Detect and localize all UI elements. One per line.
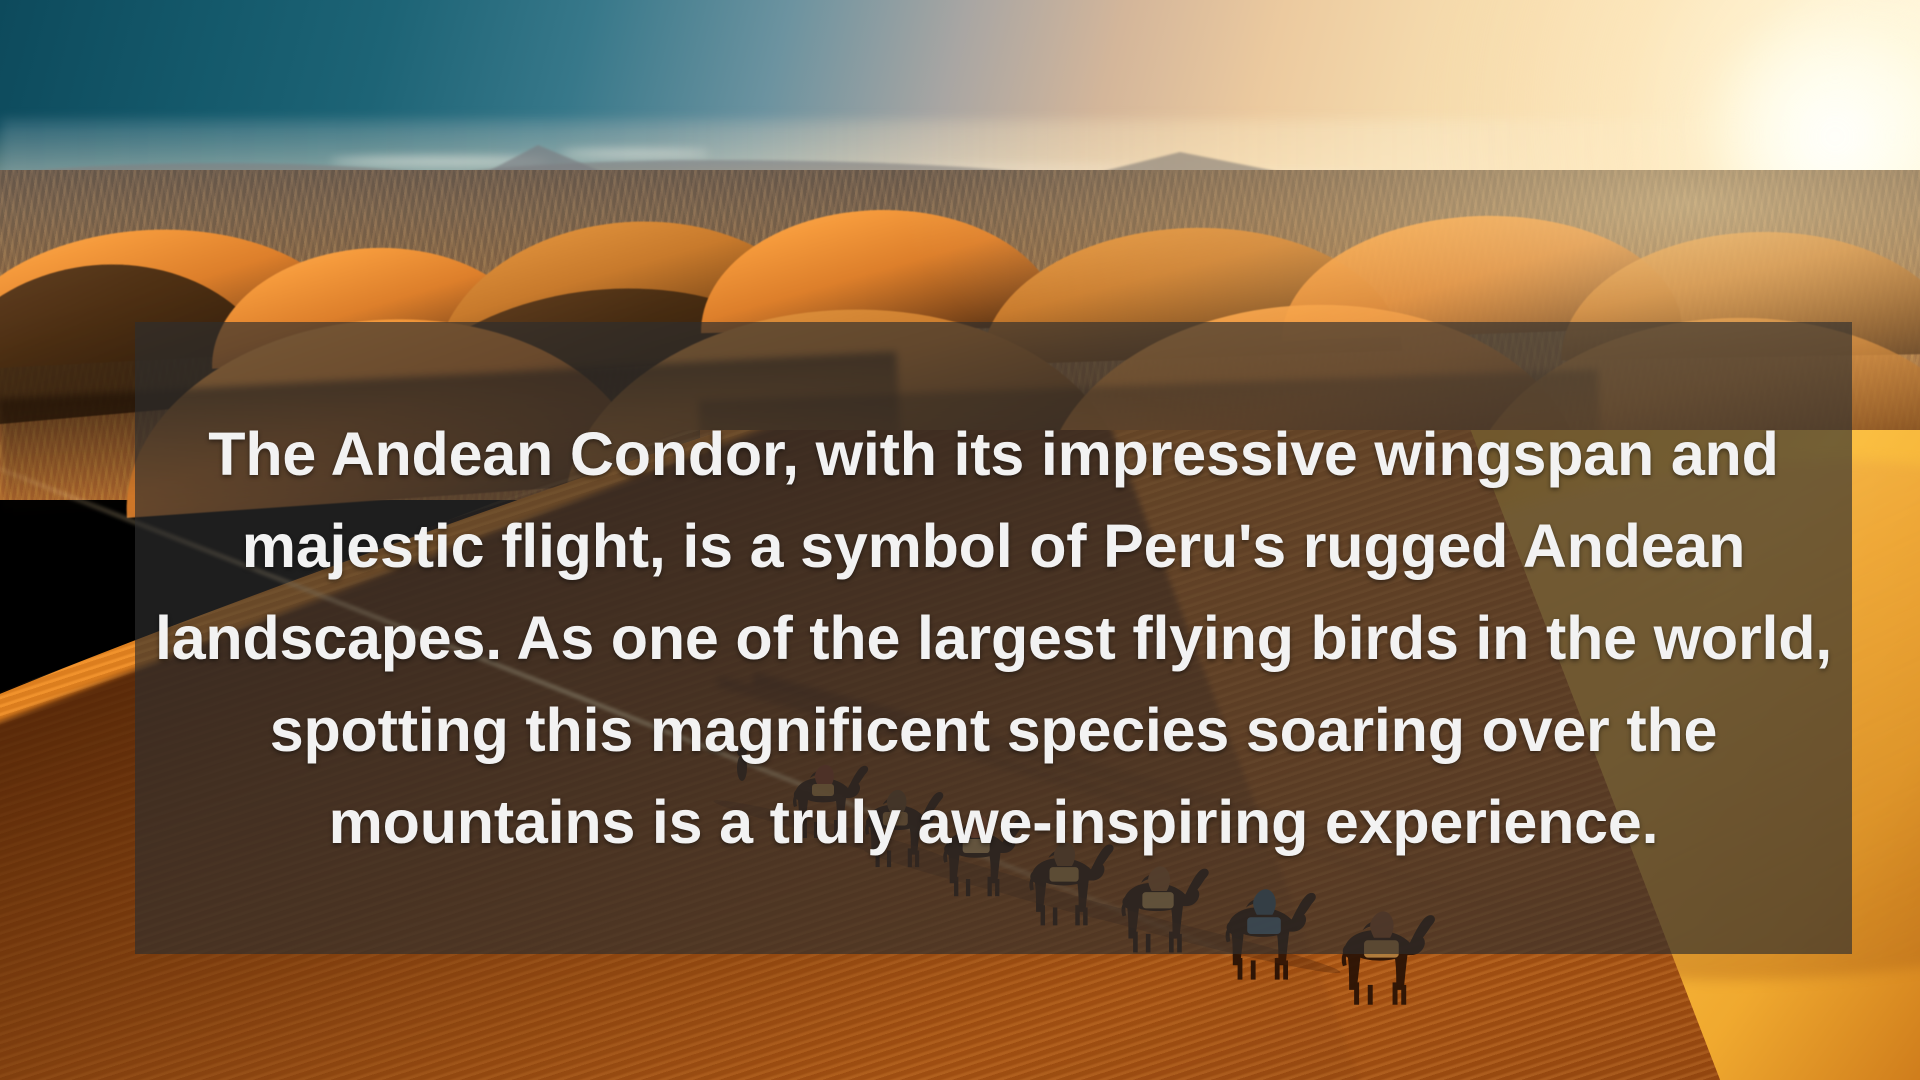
quote-line-5: mountains is a truly awe-inspiring exper… <box>329 776 1659 868</box>
quote-overlay-box: The Andean Condor, with its impressive w… <box>135 322 1852 954</box>
quote-line-1: The Andean Condor, with its impressive w… <box>208 408 1778 500</box>
quote-line-4: spotting this magnificent species soarin… <box>270 684 1718 776</box>
quote-card-scene: The Andean Condor, with its impressive w… <box>0 0 1920 1080</box>
quote-line-2: majestic flight, is a symbol of Peru's r… <box>242 500 1745 592</box>
quote-line-3: landscapes. As one of the largest flying… <box>155 592 1832 684</box>
